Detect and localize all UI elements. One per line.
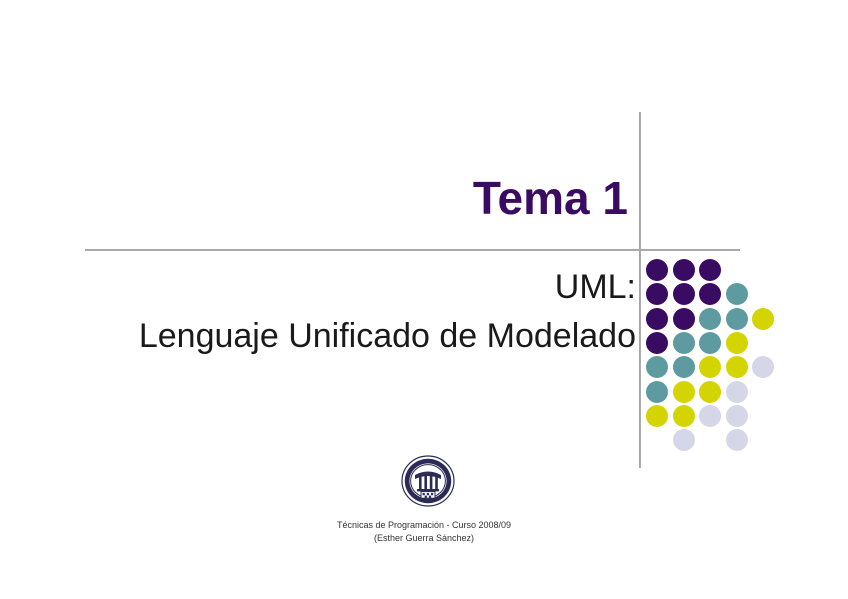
decorative-dot-purple xyxy=(673,259,695,281)
decorative-dot-yellow xyxy=(699,381,721,403)
decorative-dot-purple xyxy=(673,308,695,330)
decorative-dot-yellow xyxy=(699,356,721,378)
horizontal-divider-rule xyxy=(85,249,740,251)
decorative-dot-purple xyxy=(646,283,668,305)
uam-university-seal-icon xyxy=(399,455,457,507)
slide-subtitle-line-1: UML: xyxy=(0,268,636,306)
decorative-dot-lavender xyxy=(726,429,748,451)
decorative-dot-teal xyxy=(673,332,695,354)
decorative-dot-teal xyxy=(726,283,748,305)
vertical-divider-rule xyxy=(639,112,641,468)
decorative-dot-grid xyxy=(646,259,778,441)
decorative-dot-lavender xyxy=(726,381,748,403)
decorative-dot-lavender xyxy=(752,356,774,378)
slide-footer: Técnicas de Programación - Curso 2008/09… xyxy=(0,519,848,545)
decorative-dot-teal xyxy=(699,308,721,330)
decorative-dot-yellow xyxy=(673,381,695,403)
decorative-dot-teal xyxy=(699,332,721,354)
decorative-dot-teal xyxy=(646,356,668,378)
decorative-dot-teal xyxy=(726,308,748,330)
slide-title: Tema 1 xyxy=(0,174,628,222)
decorative-dot-yellow xyxy=(752,308,774,330)
decorative-dot-purple xyxy=(646,259,668,281)
decorative-dot-yellow xyxy=(726,356,748,378)
footer-course-line: Técnicas de Programación - Curso 2008/09 xyxy=(0,519,848,532)
decorative-dot-yellow xyxy=(726,332,748,354)
footer-author-line: (Esther Guerra Sánchez) xyxy=(0,532,848,545)
decorative-dot-purple xyxy=(646,332,668,354)
decorative-dot-purple xyxy=(699,283,721,305)
decorative-dot-teal xyxy=(646,381,668,403)
slide-subtitle-line-2: Lenguaje Unificado de Modelado xyxy=(0,317,636,355)
decorative-dot-lavender xyxy=(673,429,695,451)
decorative-dot-lavender xyxy=(726,405,748,427)
decorative-dot-yellow xyxy=(646,405,668,427)
decorative-dot-purple xyxy=(646,308,668,330)
decorative-dot-purple xyxy=(673,283,695,305)
decorative-dot-teal xyxy=(673,356,695,378)
decorative-dot-purple xyxy=(699,259,721,281)
title-slide: Tema 1 UML: Lenguaje Unificado de Modela… xyxy=(0,0,848,599)
decorative-dot-yellow xyxy=(673,405,695,427)
decorative-dot-lavender xyxy=(699,405,721,427)
